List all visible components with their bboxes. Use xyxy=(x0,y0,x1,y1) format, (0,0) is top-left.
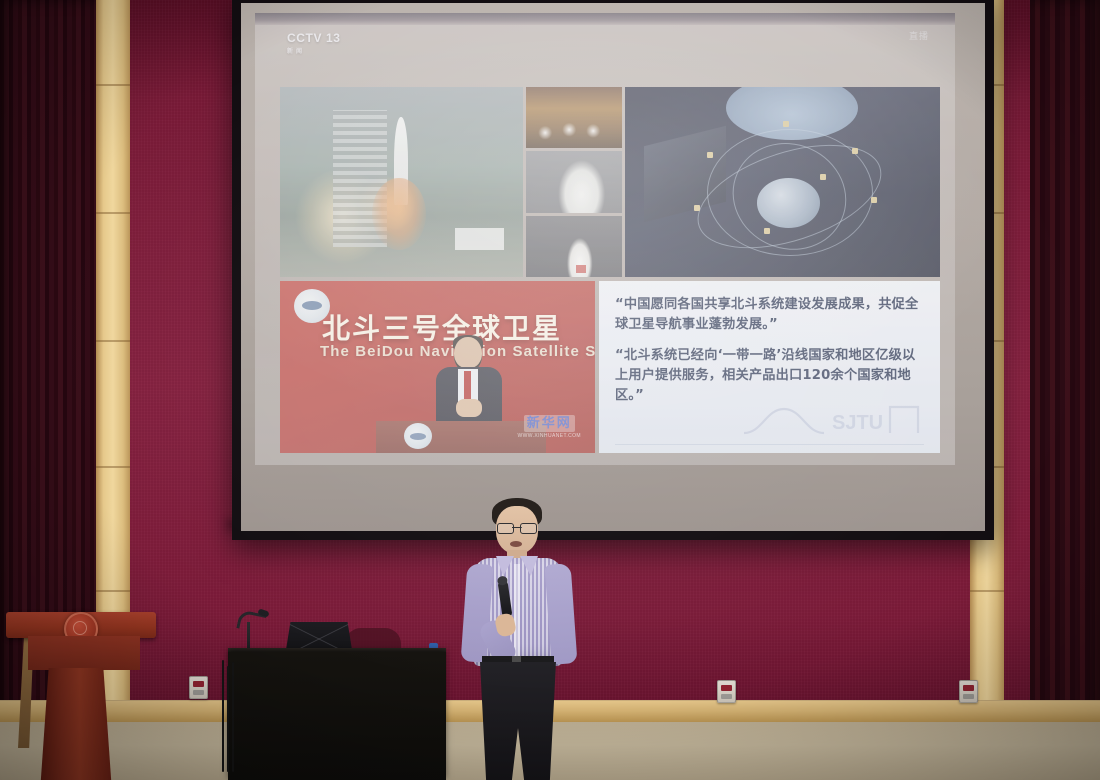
podium-front-face xyxy=(28,636,140,670)
satellite-node xyxy=(707,152,713,158)
podium-column xyxy=(40,668,112,780)
stage-curtain-left xyxy=(0,0,96,712)
earth-globe xyxy=(757,178,820,227)
sjtu-watermark: SJTU xyxy=(740,399,930,439)
satellite-node xyxy=(764,228,770,234)
thumbnail-payload-fairing xyxy=(526,216,622,277)
slide-top-strip xyxy=(255,13,955,25)
quote-divider xyxy=(615,444,924,445)
wood-pilaster-left xyxy=(96,0,130,706)
xinhua-watermark: 新华网 WWW.XINHUANET.COM xyxy=(518,412,581,439)
projected-slide: CCTV 13 新闻 直播 xyxy=(255,13,955,465)
slide-thumbnail-strip xyxy=(526,87,622,277)
satellite-constellation-image xyxy=(625,87,940,277)
launch-site-building xyxy=(455,228,504,251)
lecture-hall-photo: CCTV 13 新闻 直播 xyxy=(0,0,1100,780)
presenter-arm-right xyxy=(545,563,578,665)
stage-curtain-right xyxy=(1030,0,1100,716)
wall-outlet xyxy=(717,680,736,703)
beidou-banner-panel: 北斗三号全球卫星 The BeiDou Navigation Satellite… xyxy=(280,281,595,453)
thumbnail-nose-cone xyxy=(526,151,622,212)
thumbnail-launch-pad xyxy=(526,87,622,148)
slide-media-row xyxy=(280,87,940,277)
satellite-node xyxy=(871,197,877,203)
eyeglasses-icon xyxy=(496,523,538,533)
satellite-node xyxy=(820,174,826,180)
satellite-node xyxy=(852,148,858,154)
presenter-mouth xyxy=(510,541,522,547)
presenter-person xyxy=(452,498,584,780)
exhaust-plume xyxy=(372,178,425,250)
quote-line-2: “北斗系统已经向‘一带一路’沿线国家和地区亿级以上用户提供服务，相关产品出口12… xyxy=(599,346,940,406)
cable-bundle xyxy=(218,660,242,778)
wooden-podium xyxy=(6,612,156,780)
satellite-node xyxy=(783,121,789,127)
cctv-logo: CCTV 13 新闻 xyxy=(287,31,341,55)
live-badge: 直播 xyxy=(909,29,929,42)
rocket-launch-image xyxy=(280,87,523,277)
presenter-trousers xyxy=(480,662,556,780)
svg-text:SJTU: SJTU xyxy=(832,412,883,434)
wall-outlet xyxy=(189,676,208,699)
quote-line-1: “中国愿同各国共享北斗系统建设发展成果，共促全球卫星导航事业蓬勃发展。” xyxy=(599,295,940,335)
satellite-node xyxy=(694,205,700,211)
wall-outlet xyxy=(959,680,978,703)
quote-panel: “中国愿同各国共享北斗系统建设发展成果，共促全球卫星导航事业蓬勃发展。” “北斗… xyxy=(599,281,940,453)
projection-screen: CCTV 13 新闻 直播 xyxy=(232,0,994,540)
conference-table xyxy=(228,652,446,780)
lectern-emblem-icon xyxy=(404,423,432,449)
